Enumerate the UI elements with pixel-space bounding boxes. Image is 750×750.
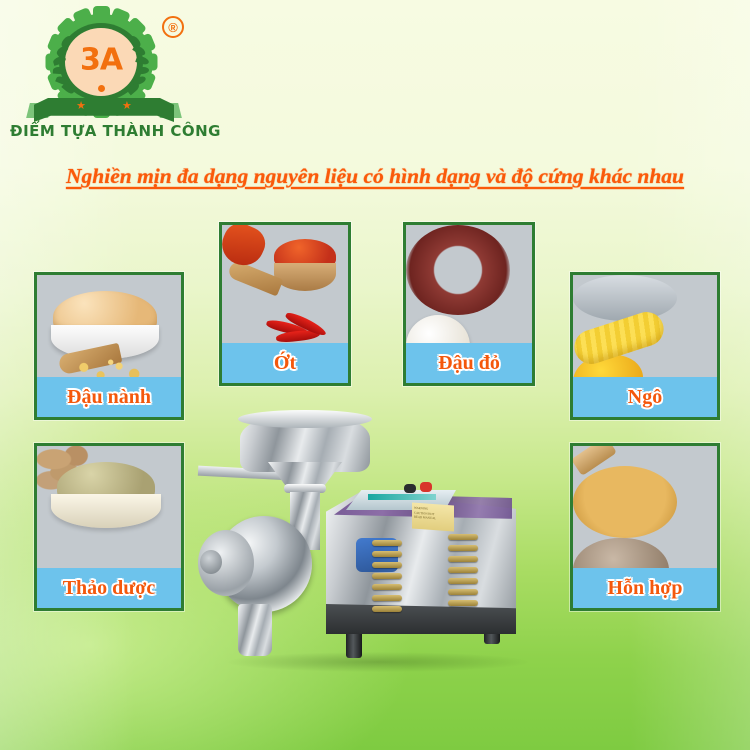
registered-trademark-icon: ®	[162, 16, 184, 38]
mill-lid-strip	[368, 494, 436, 500]
mill-warning-label: WARNING CAUTION HOT READ MANUAL	[412, 503, 454, 532]
material-card-thao-duoc[interactable]: Thảo dược	[34, 443, 184, 611]
mill-switch-black[interactable]	[404, 484, 416, 493]
chili-photo	[222, 225, 348, 343]
material-card-label: Đậu đỏ	[406, 343, 532, 383]
material-card-dau-do[interactable]: Đậu đỏ	[403, 222, 535, 386]
page-headline: Nghiền mịn đa dạng nguyên liệu có hình d…	[0, 164, 750, 189]
logo-mark: 3A ★ ★ ®	[28, 8, 180, 120]
brand-logo: 3A ★ ★ ® ĐIỂM TỰA THÀNH CÔNG	[10, 6, 206, 156]
herb-photo	[37, 446, 181, 568]
mill-drum-hub	[200, 550, 222, 574]
material-card-ngo[interactable]: Ngô	[570, 272, 720, 420]
mixture-photo	[573, 446, 717, 568]
material-card-hon-hop[interactable]: Hỗn hợp	[570, 443, 720, 611]
star-icon-left: ★	[76, 101, 86, 112]
mill-switch-red[interactable]	[420, 482, 432, 492]
material-card-label: Ngô	[573, 377, 717, 417]
soybean-photo	[37, 275, 181, 377]
star-icon-right: ★	[122, 101, 132, 112]
red-bean-photo	[406, 225, 532, 343]
material-card-label: Hỗn hợp	[573, 568, 717, 608]
banner-ribbon: ★ ★	[34, 98, 174, 122]
product-shadow	[228, 652, 528, 672]
brand-tagline: ĐIỂM TỰA THÀNH CÔNG	[10, 122, 206, 140]
laurel-wreath-left-icon	[52, 36, 78, 94]
logo-dot	[98, 85, 105, 92]
grinding-mill-product-image: WARNING CAUTION HOT READ MANUAL	[198, 408, 554, 680]
material-card-label: Ớt	[222, 343, 348, 383]
laurel-wreath-right-icon	[124, 36, 150, 94]
material-card-ot[interactable]: Ớt	[219, 222, 351, 386]
mill-discharge-spout	[238, 604, 272, 656]
material-card-dau-nanh[interactable]: Đậu nành	[34, 272, 184, 420]
logo-3a-text: 3A	[80, 42, 122, 77]
corn-photo	[573, 275, 717, 377]
mill-vent-grill	[372, 538, 508, 620]
mill-hopper-rim	[238, 410, 372, 428]
material-card-label: Thảo dược	[37, 568, 181, 608]
material-card-label: Đậu nành	[37, 377, 181, 417]
